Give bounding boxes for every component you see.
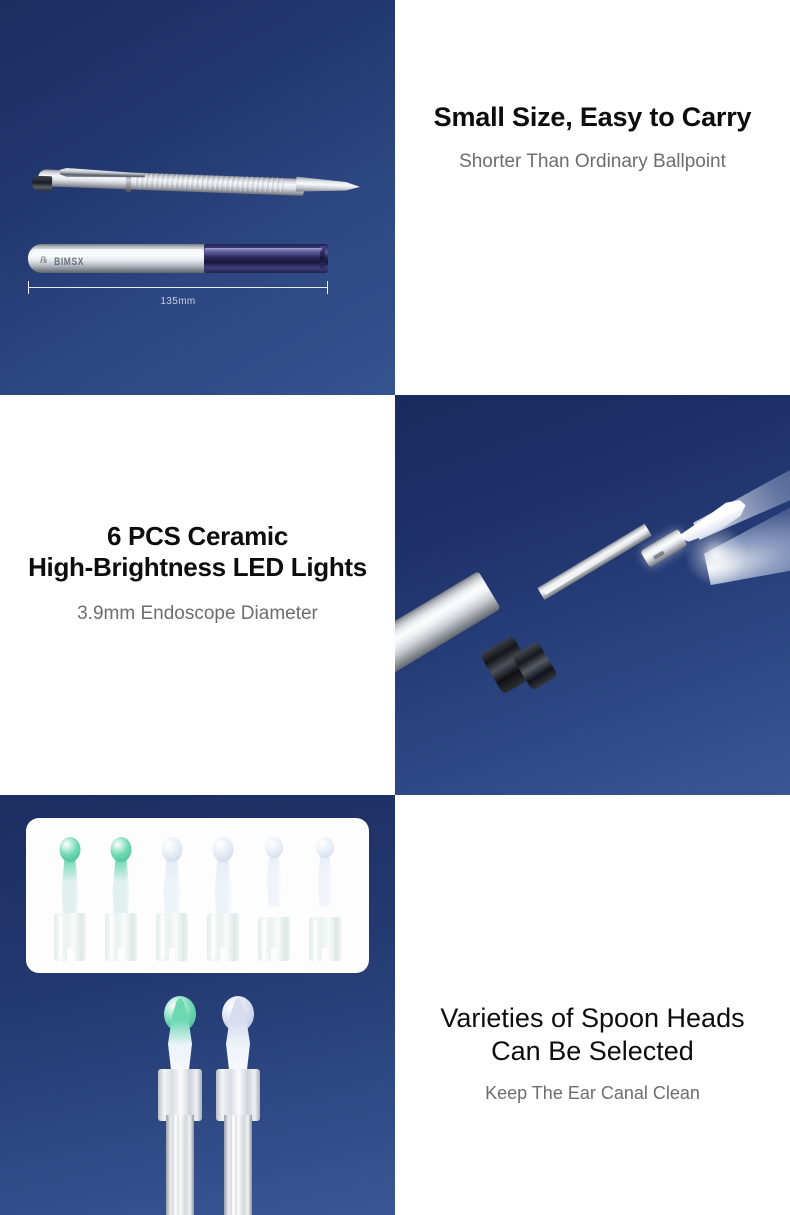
device-branding: ℞ BIMSX: [40, 255, 84, 266]
mounted-metal-shaft: [224, 1115, 252, 1215]
dimension-end-cap-left: [28, 281, 29, 294]
spoon-feature-heading-line2: Can Be Selected: [440, 1035, 744, 1068]
mounted-spoon-head-green: [150, 997, 210, 1215]
spoon-head-clear-small-1: [254, 837, 294, 961]
size-comparison-photo-panel: ℞ BIMSX 135mm: [0, 0, 395, 395]
dimension-value: 135mm: [28, 296, 328, 307]
dimension-line: [28, 281, 328, 295]
spoon-head-bulb: [213, 837, 234, 862]
led-feature-heading: 6 PCS Ceramic High-Brightness LED Lights: [28, 521, 367, 582]
pen-cap-end: [32, 176, 53, 192]
spoon-head-green-large-2: [101, 837, 141, 961]
mounted-spoon-heads: [0, 991, 395, 1215]
mounted-collar: [158, 1069, 202, 1121]
ballpoint-pen-reference: [14, 162, 362, 198]
spoon-head-clear-large-1: [152, 837, 192, 961]
spoon-feature-heading: Varieties of Spoon Heads Can Be Selected: [440, 1002, 744, 1068]
spoon-head-base: [309, 917, 341, 961]
spoon-head-base: [258, 917, 290, 961]
ear-cleaner-device: ℞ BIMSX: [28, 240, 328, 278]
led-feature-text-panel: 6 PCS Ceramic High-Brightness LED Lights…: [0, 395, 395, 795]
led-feature-subheading: 3.9mm Endoscope Diameter: [77, 603, 318, 625]
spoon-heads-card: [26, 818, 369, 973]
mounted-collar: [216, 1069, 260, 1121]
spoon-feature-heading-line1: Varieties of Spoon Heads: [440, 1002, 744, 1035]
device-silver-body: ℞ BIMSX: [28, 244, 206, 273]
spoon-head-bulb: [111, 837, 132, 862]
led-light-beam-core: [680, 397, 790, 570]
dimension-end-cap-right: [327, 281, 328, 294]
spoon-head-base: [105, 913, 137, 961]
spoon-head-clear-large-2: [203, 837, 243, 961]
spoon-head-clear-small-2: [305, 837, 345, 961]
spoon-head-base: [156, 913, 188, 961]
device-logo-text: BIMSX: [54, 254, 84, 267]
spoon-head-green-large-1: [50, 837, 90, 961]
swoosh-logo-icon: ℞: [39, 255, 49, 266]
device-navy-cap: [204, 244, 328, 273]
spoon-head-base: [54, 913, 86, 961]
size-feature-heading: Small Size, Easy to Carry: [434, 102, 752, 134]
illuminated-ear-pick: [395, 395, 790, 795]
spoon-feature-subheading: Keep The Ear Canal Clean: [485, 1083, 700, 1104]
pen-tip: [296, 177, 361, 195]
led-illumination-photo-panel: [395, 395, 790, 795]
spoon-head-bulb: [316, 837, 334, 858]
led-feature-heading-line1: 6 PCS Ceramic: [28, 521, 367, 552]
mounted-metal-shaft: [166, 1115, 194, 1215]
spoon-heads-photo-panel: [0, 795, 395, 1215]
probe-shaft-highlight: [544, 531, 647, 594]
dimension-annotation: 135mm: [28, 281, 328, 307]
probe-handle: [395, 571, 501, 686]
spoon-head-bulb: [265, 837, 283, 858]
spoon-head-bulb: [60, 837, 81, 862]
spoon-head-bulb: [162, 837, 183, 862]
spoon-feature-text-panel: Varieties of Spoon Heads Can Be Selected…: [395, 795, 790, 1215]
spoon-head-base: [207, 913, 239, 961]
mounted-spoon-head-clear: [208, 997, 268, 1215]
led-feature-heading-line2: High-Brightness LED Lights: [28, 552, 367, 583]
size-feature-subheading: Shorter Than Ordinary Ballpoint: [459, 151, 726, 173]
size-feature-text-panel: Small Size, Easy to Carry Shorter Than O…: [395, 0, 790, 395]
feature-grid: ℞ BIMSX 135mm Small Size, Easy to Carry …: [0, 0, 790, 1215]
